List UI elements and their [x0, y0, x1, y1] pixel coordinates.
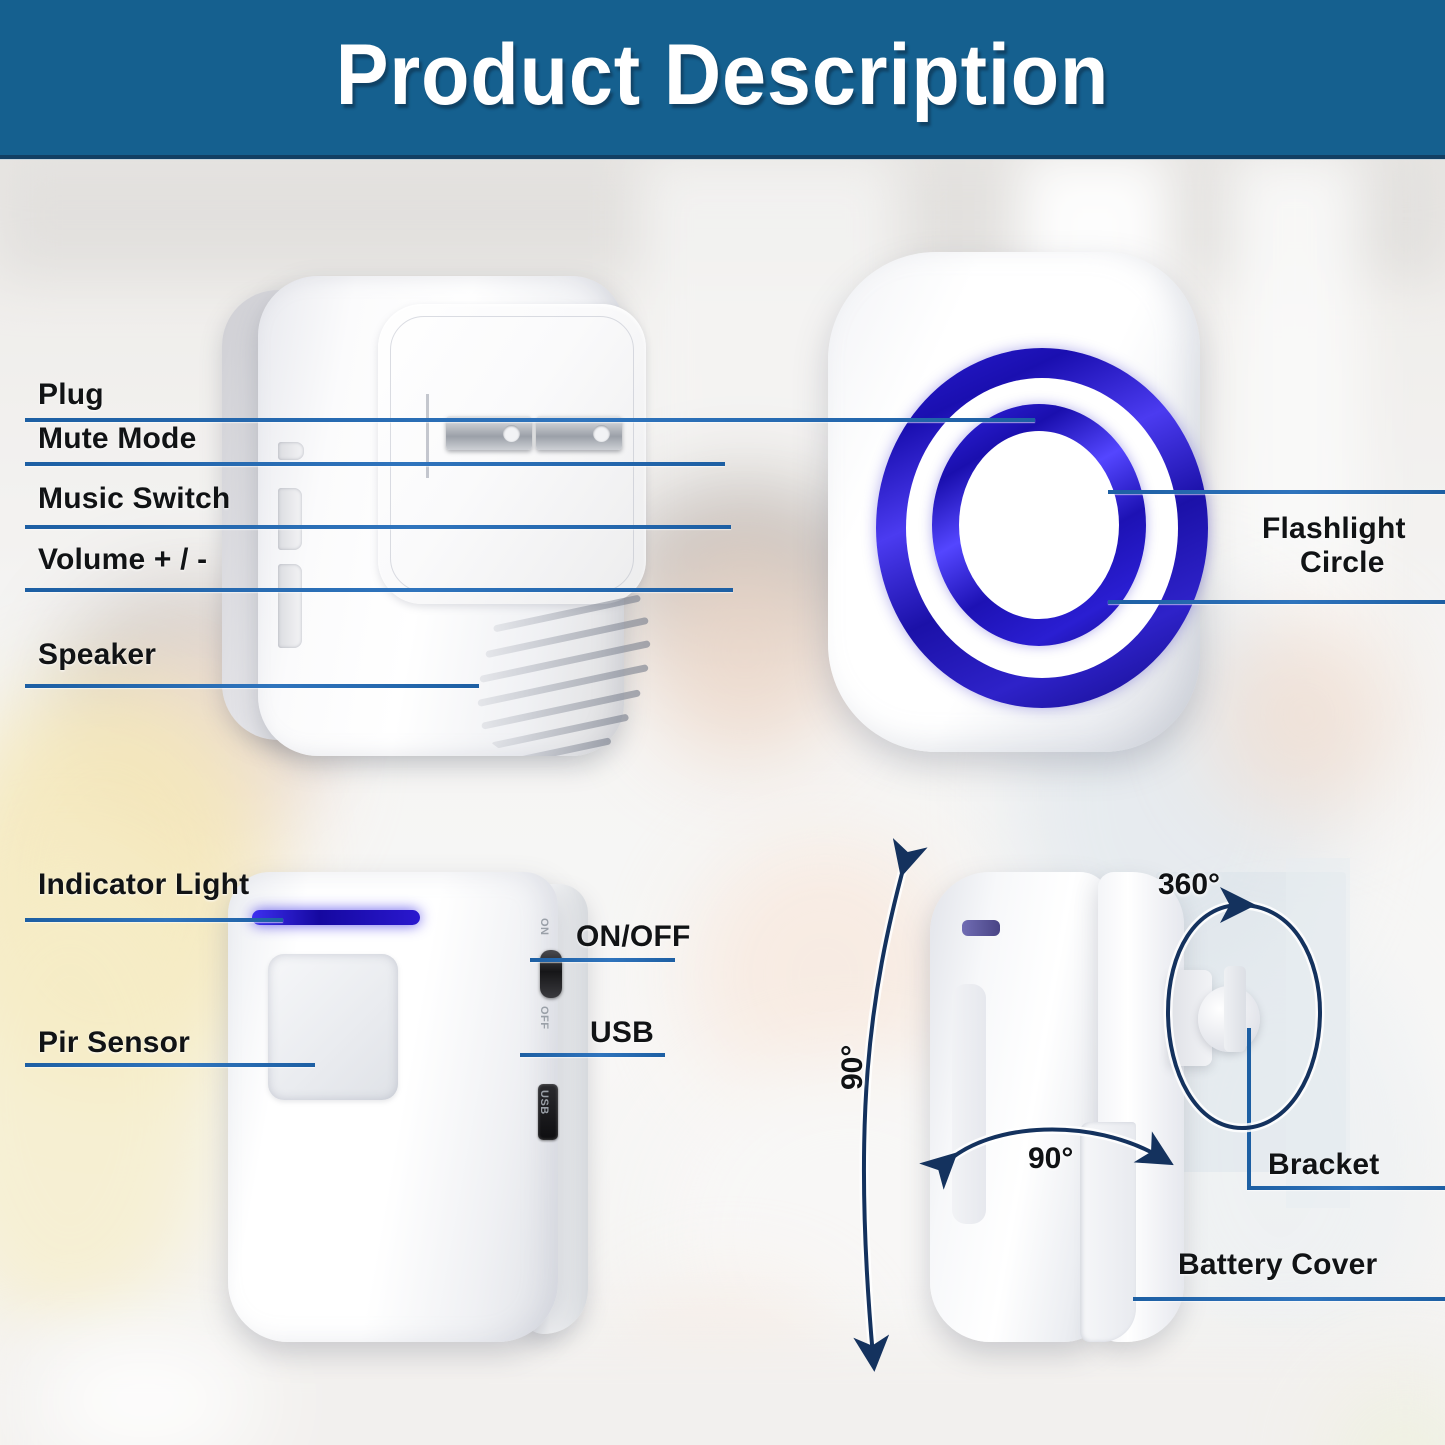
- sensor-side-lens: [952, 984, 986, 1224]
- sensor-side-view: [930, 872, 1190, 1352]
- leader-line-battery-cover: [1133, 1297, 1445, 1301]
- leader-line-on-off: [530, 958, 675, 962]
- callout-pir-sensor: Pir Sensor: [38, 1026, 190, 1060]
- switch-on-marking: ON: [538, 918, 550, 936]
- header-banner: Product Description: [0, 0, 1445, 159]
- pir-sensor-lens: [268, 954, 398, 1100]
- switch-off-marking: OFF: [538, 1006, 550, 1030]
- callout-flashlight-circle-line2: Circle: [1300, 546, 1385, 580]
- callout-indicator-light: Indicator Light: [38, 868, 249, 902]
- leader-line-music-switch: [25, 525, 731, 529]
- callout-usb: USB: [590, 1016, 654, 1050]
- angle-label-vertical: 90°: [836, 1045, 870, 1090]
- receiver-plug-plate: [378, 304, 646, 604]
- leader-line-flashlight-top: [1108, 490, 1445, 494]
- page-title: Product Description: [58, 26, 1387, 125]
- leader-line-usb: [520, 1053, 665, 1057]
- leader-line-volume: [25, 588, 733, 592]
- callout-speaker: Speaker: [38, 638, 156, 672]
- leader-line-indicator-light: [25, 918, 283, 922]
- wireless-chime: [828, 252, 1200, 752]
- leader-line-mute-mode: [25, 462, 725, 466]
- leader-line-speaker: [25, 684, 479, 688]
- volume-button[interactable]: [278, 564, 302, 648]
- mute-mode-button[interactable]: [278, 442, 304, 460]
- callout-volume: Volume + / -: [38, 543, 207, 577]
- leader-line-pir-sensor: [25, 1063, 315, 1067]
- leader-line-bracket: [1247, 1186, 1445, 1190]
- leader-line-bracket-vertical: [1247, 1028, 1251, 1186]
- mounting-bracket: [1168, 960, 1288, 1090]
- callout-flashlight-circle-line1: Flashlight: [1262, 512, 1406, 546]
- speaker-grille: [474, 594, 666, 756]
- angle-label-360: 360°: [1158, 868, 1220, 902]
- callout-music-switch: Music Switch: [38, 482, 230, 516]
- pir-motion-sensor: ON OFF USB: [228, 872, 588, 1352]
- battery-cover-panel: [1080, 1122, 1136, 1342]
- angle-label-horizontal: 90°: [1028, 1142, 1073, 1176]
- chime-body: [828, 252, 1200, 752]
- flashlight-circle-inner-ring: [932, 404, 1146, 646]
- callout-battery-cover: Battery Cover: [1178, 1248, 1377, 1282]
- music-switch-button[interactable]: [278, 488, 302, 550]
- leader-line-flashlight-bottom: [1108, 600, 1445, 604]
- sensor-side-indicator: [962, 920, 1000, 936]
- product-description-image: Product Description: [0, 0, 1445, 1445]
- sensor-body: [228, 872, 558, 1342]
- usb-port-marking: USB: [538, 1090, 550, 1115]
- callout-bracket: Bracket: [1268, 1148, 1379, 1182]
- bracket-fin: [1224, 966, 1246, 1052]
- callout-mute-mode: Mute Mode: [38, 422, 196, 456]
- callout-plug: Plug: [38, 378, 104, 412]
- callout-on-off: ON/OFF: [576, 920, 691, 954]
